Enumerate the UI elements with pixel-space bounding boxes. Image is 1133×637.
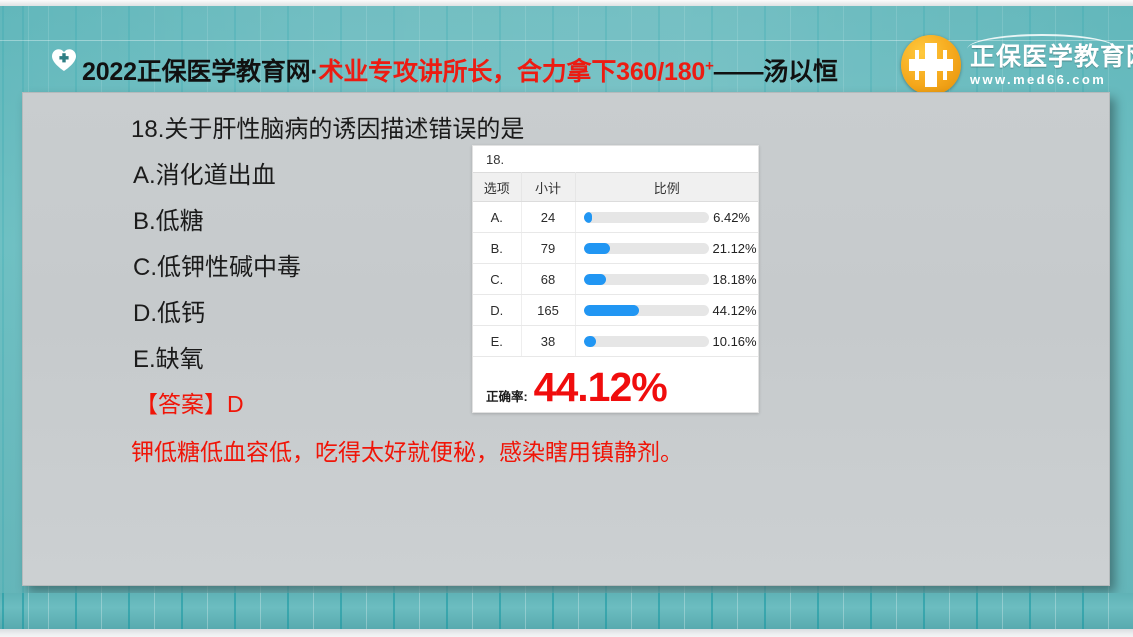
percent-label: 44.12% [709,303,757,318]
cell-percent: 6.42% [575,202,758,233]
top-edge-strip [0,0,1133,6]
slide-root: 2022正保医学教育网·术业专攻讲所长，合力拿下360/180+——汤以恒 正保… [0,0,1133,637]
correct-rate-row: 正确率: 44.12% [473,366,758,408]
cell-percent: 18.18% [575,264,758,295]
footer-stripe-band [0,593,1133,629]
cell-count: 24 [521,202,575,233]
header-title-red: 术业专攻讲所长，合力拿下360/180 [319,58,706,86]
percent-label: 6.42% [709,210,751,225]
percent-bar-fill [584,336,597,347]
cell-percent: 10.16% [575,326,758,357]
table-header-row: 选项 小计 比例 [473,173,758,202]
table-row: B.7921.12% [473,233,758,264]
stats-card-title: 18. [473,146,758,172]
correct-rate-value: 44.12% [534,366,667,408]
percent-bar-fill [584,305,639,316]
site-logo: 正保医学教育网 www.med66.com [901,32,1115,98]
mnemonic-line: 钾低糖低血容低，吃得太好就便秘，感染瞎用镇静剂。 [131,433,683,467]
percent-label: 18.18% [709,272,757,287]
correct-rate-label: 正确率: [486,386,528,405]
cell-option: D. [473,295,521,326]
option-b: B.低糖 [133,201,204,236]
percent-bar-fill [584,212,592,223]
cell-option: B. [473,233,521,264]
header-title-prefix: 2022正保医学教育网· [82,58,319,86]
table-row: C.6818.18% [473,264,758,295]
header-title: 2022正保医学教育网·术业专攻讲所长，合力拿下360/180+——汤以恒 [82,52,838,88]
header-banner: 2022正保医学教育网·术业专攻讲所长，合力拿下360/180+——汤以恒 正保… [0,14,1133,90]
logo-swoosh-decoration [967,34,1117,52]
percent-bar-track [584,274,709,285]
answer-line: 【答案】D [135,385,244,419]
table-row: D.16544.12% [473,295,758,326]
percent-bar-track [584,243,709,254]
cell-count: 68 [521,264,575,295]
percent-bar-fill [584,243,610,254]
percent-label: 21.12% [709,241,757,256]
content-panel: 18.关于肝性脑病的诱因描述错误的是 A.消化道出血 B.低糖 C.低钾性碱中毒… [22,92,1110,586]
orange-cross-badge-icon [901,35,961,95]
option-e: E.缺氧 [133,339,204,374]
statistics-card: 18. 选项 小计 比例 A.246.42%B.7921.12%C.6818.1… [472,145,759,413]
footer-stripes-light [0,593,1133,629]
percent-label: 10.16% [709,334,757,349]
percent-bar-track [584,212,709,223]
table-row: E.3810.16% [473,326,758,357]
statistics-table: 选项 小计 比例 A.246.42%B.7921.12%C.6818.18%D.… [473,172,758,357]
cell-percent: 44.12% [575,295,758,326]
heart-plus-icon [51,48,77,72]
logo-url: www.med66.com [970,71,1133,88]
header-title-suffix: ——汤以恒 [714,58,838,86]
question-stem: 18.关于肝性脑病的诱因描述错误的是 [131,109,524,144]
col-header-option: 选项 [473,173,521,202]
header-title-superscript: + [705,58,714,75]
bottom-edge-strip [0,629,1133,637]
percent-bar-track [584,336,709,347]
table-row: A.246.42% [473,202,758,233]
percent-bar-fill [584,274,607,285]
cell-count: 79 [521,233,575,264]
cell-option: E. [473,326,521,357]
option-c: C.低钾性碱中毒 [133,247,301,282]
cell-option: A. [473,202,521,233]
cell-count: 165 [521,295,575,326]
percent-bar-track [584,305,709,316]
option-d: D.低钙 [133,293,205,328]
cell-option: C. [473,264,521,295]
col-header-percent: 比例 [575,173,758,202]
col-header-count: 小计 [521,173,575,202]
cell-percent: 21.12% [575,233,758,264]
option-a: A.消化道出血 [133,155,276,190]
cell-count: 38 [521,326,575,357]
statistics-table-body: A.246.42%B.7921.12%C.6818.18%D.16544.12%… [473,202,758,357]
